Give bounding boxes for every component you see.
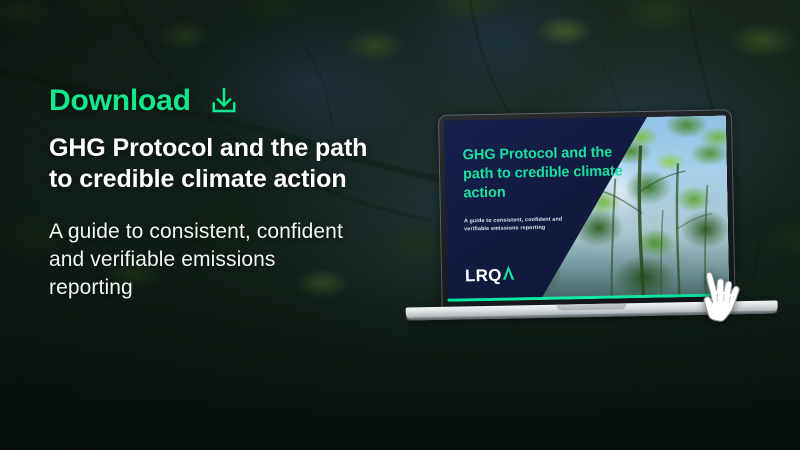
page-title: GHG Protocol and the path to credible cl… [49, 133, 389, 194]
cover-subheading: A guide to consistent, confident and ver… [464, 215, 584, 234]
download-icon[interactable] [209, 86, 239, 116]
laptop-base-notch [557, 303, 627, 310]
download-label: Download [49, 86, 191, 116]
cover-text-block: GHG Protocol and the path to credible cl… [444, 117, 642, 234]
laptop-screen[interactable]: GHG Protocol and the path to credible cl… [444, 115, 729, 301]
lrqa-logo-text: LRQ [465, 267, 502, 285]
promo-copy: Download GHG Protocol and the path to cr… [49, 86, 409, 302]
download-label-row: Download [49, 86, 409, 116]
page-subtitle: A guide to consistent, confident and ver… [49, 218, 349, 302]
cover-heading: GHG Protocol and the path to credible cl… [463, 143, 642, 203]
hand-pointer-cursor[interactable] [698, 269, 752, 331]
laptop-lid: GHG Protocol and the path to credible cl… [438, 109, 736, 311]
lrqa-logo-accent-letter [502, 264, 515, 280]
lrqa-logo: LRQ [465, 264, 515, 284]
promo-banner: Download GHG Protocol and the path to cr… [0, 0, 800, 450]
